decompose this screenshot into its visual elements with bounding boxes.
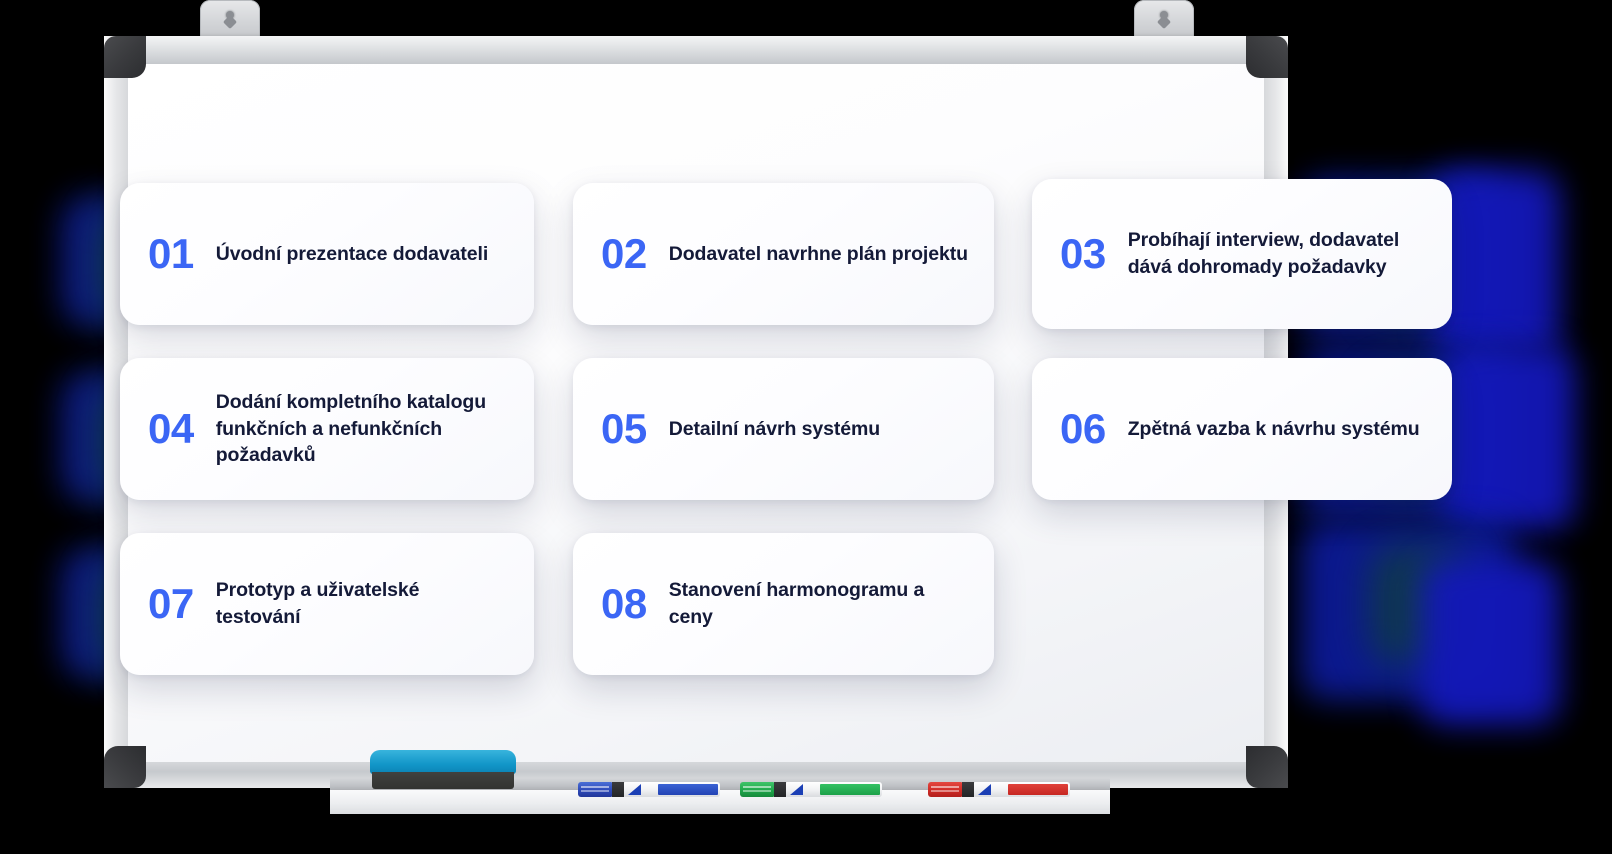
step-label: Detailní návrh systému	[669, 416, 880, 443]
step-card-08[interactable]: 08 Stanovení harmonogramu a ceny	[573, 533, 994, 675]
step-number: 02	[601, 233, 647, 275]
step-card-02[interactable]: 02 Dodavatel navrhne plán projektu	[573, 183, 994, 325]
step-number: 03	[1060, 233, 1106, 275]
step-number: 04	[148, 408, 194, 450]
whiteboard-process-diagram: 01 Úvodní prezentace dodavateli 02 Dodav…	[0, 0, 1612, 854]
step-number: 06	[1060, 408, 1106, 450]
step-label: Úvodní prezentace dodavateli	[216, 241, 488, 268]
step-label: Dodání kompletního katalogu funkčních a …	[216, 389, 508, 470]
step-number: 05	[601, 408, 647, 450]
step-label: Stanovení harmonogramu a ceny	[669, 577, 968, 631]
step-label: Dodavatel navrhne plán projektu	[669, 241, 968, 268]
step-card-03[interactable]: 03 Probíhají interview, dodavatel dává d…	[1032, 179, 1452, 329]
step-card-07[interactable]: 07 Prototyp a uživatelské testování	[120, 533, 534, 675]
step-number: 08	[601, 583, 647, 625]
step-label: Prototyp a uživatelské testování	[216, 577, 508, 631]
step-card-05[interactable]: 05 Detailní návrh systému	[573, 358, 994, 500]
step-card-04[interactable]: 04 Dodání kompletního katalogu funkčních…	[120, 358, 534, 500]
step-label: Zpětná vazba k návrhu systému	[1128, 416, 1420, 443]
step-card-01[interactable]: 01 Úvodní prezentace dodavateli	[120, 183, 534, 325]
step-number: 01	[148, 233, 194, 275]
step-number: 07	[148, 583, 194, 625]
step-card-06[interactable]: 06 Zpětná vazba k návrhu systému	[1032, 358, 1452, 500]
process-step-cards: 01 Úvodní prezentace dodavateli 02 Dodav…	[0, 0, 1612, 854]
step-label: Probíhají interview, dodavatel dává dohr…	[1128, 227, 1426, 281]
